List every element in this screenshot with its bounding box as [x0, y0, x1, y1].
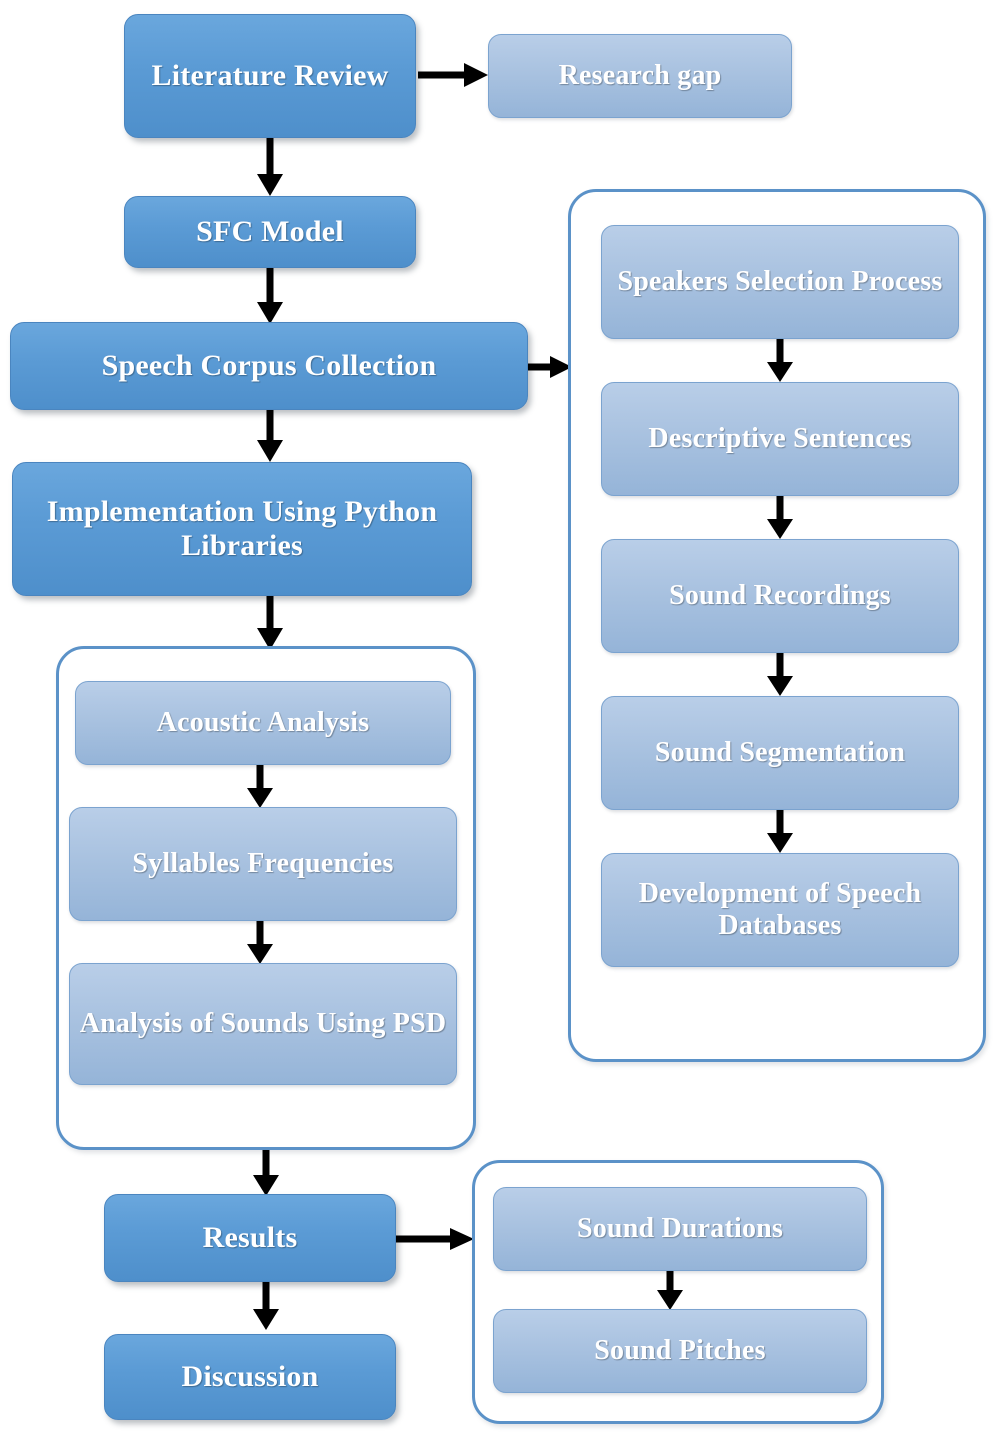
node-speakers-selection-process-label: Speakers Selection Process — [617, 266, 942, 298]
arrow-durations-to-pitches — [653, 1271, 687, 1311]
node-analysis-of-sounds-psd[interactable]: Analysis of Sounds Using PSD — [69, 963, 457, 1085]
node-sound-recordings-label: Sound Recordings — [669, 580, 891, 612]
node-development-speech-databases[interactable]: Development of Speech Databases — [601, 853, 959, 967]
node-sfc-model-label: SFC Model — [196, 215, 344, 249]
arrow-literature-to-gap — [418, 60, 490, 90]
node-sound-segmentation-label: Sound Segmentation — [655, 737, 905, 769]
arrow-recordings-to-segmentation — [763, 653, 797, 697]
node-acoustic-analysis[interactable]: Acoustic Analysis — [75, 681, 451, 765]
node-analysis-of-sounds-psd-label: Analysis of Sounds Using PSD — [80, 1008, 447, 1040]
node-speakers-selection-process[interactable]: Speakers Selection Process — [601, 225, 959, 339]
arrow-corpus-to-implementation — [252, 410, 288, 464]
group-results-output: Sound Durations Sound Pitches — [472, 1160, 884, 1424]
arrow-results-to-group — [396, 1224, 476, 1254]
node-syllables-frequencies[interactable]: Syllables Frequencies — [69, 807, 457, 921]
arrow-syllables-to-psd — [243, 921, 277, 965]
node-sound-durations[interactable]: Sound Durations — [493, 1187, 867, 1271]
arrow-implementation-to-analysis — [252, 596, 288, 652]
node-discussion-label: Discussion — [181, 1360, 318, 1394]
arrow-speakers-to-sentences — [763, 339, 797, 383]
arrow-results-to-discussion — [248, 1282, 284, 1332]
arrow-sfc-to-corpus — [252, 268, 288, 326]
node-speech-corpus-collection[interactable]: Speech Corpus Collection — [10, 322, 528, 410]
node-results-label: Results — [203, 1221, 298, 1255]
node-sound-segmentation[interactable]: Sound Segmentation — [601, 696, 959, 810]
node-sfc-model[interactable]: SFC Model — [124, 196, 416, 268]
node-research-gap[interactable]: Research gap — [488, 34, 792, 118]
node-sound-pitches-label: Sound Pitches — [594, 1335, 765, 1367]
arrow-sentences-to-recordings — [763, 496, 797, 540]
node-literature-review[interactable]: Literature Review — [124, 14, 416, 138]
node-development-speech-databases-label: Development of Speech Databases — [610, 878, 950, 942]
node-discussion[interactable]: Discussion — [104, 1334, 396, 1420]
node-descriptive-sentences-label: Descriptive Sentences — [648, 423, 911, 455]
group-speech-corpus-process: Speakers Selection Process Descriptive S… — [568, 189, 986, 1062]
node-descriptive-sentences[interactable]: Descriptive Sentences — [601, 382, 959, 496]
node-results[interactable]: Results — [104, 1194, 396, 1282]
node-sound-durations-label: Sound Durations — [577, 1213, 783, 1245]
node-implementation[interactable]: Implementation Using Python Libraries — [12, 462, 472, 596]
arrow-segmentation-to-databases — [763, 810, 797, 854]
node-sound-pitches[interactable]: Sound Pitches — [493, 1309, 867, 1393]
node-literature-review-label: Literature Review — [152, 59, 389, 93]
node-research-gap-label: Research gap — [559, 60, 722, 92]
arrow-literature-to-sfc — [252, 138, 288, 198]
group-analysis-process: Acoustic Analysis Syllables Frequencies … — [56, 646, 476, 1150]
node-implementation-label: Implementation Using Python Libraries — [21, 495, 463, 563]
arrow-analysis-to-results — [248, 1150, 284, 1198]
node-speech-corpus-collection-label: Speech Corpus Collection — [102, 349, 437, 383]
node-acoustic-analysis-label: Acoustic Analysis — [157, 707, 370, 739]
node-syllables-frequencies-label: Syllables Frequencies — [132, 848, 393, 880]
arrow-acoustic-to-syllables — [243, 765, 277, 809]
node-sound-recordings[interactable]: Sound Recordings — [601, 539, 959, 653]
flowchart-canvas: Literature Review Research gap SFC Model… — [0, 0, 996, 1432]
